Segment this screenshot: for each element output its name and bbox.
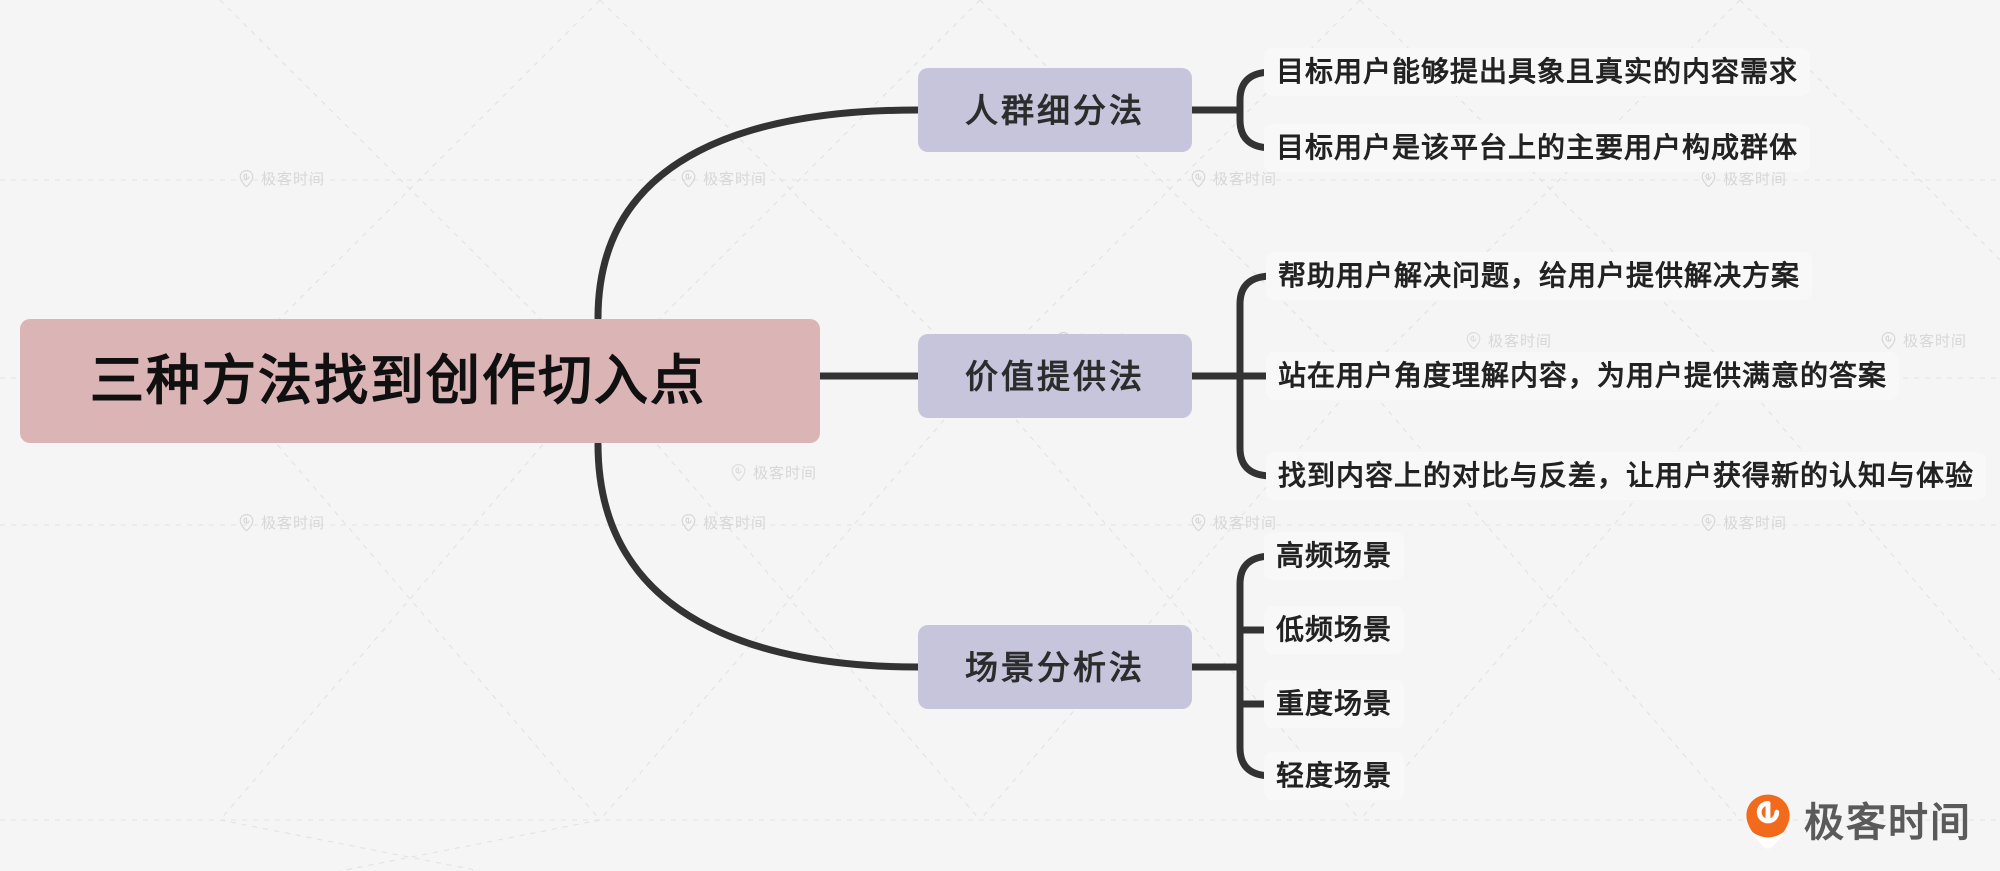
watermark-text: 极客时间 bbox=[1723, 512, 1787, 533]
branch-node-3[interactable]: 场景分析法 bbox=[918, 625, 1192, 709]
watermark-text: 极客时间 bbox=[703, 512, 767, 533]
geektime-pin-icon bbox=[238, 170, 255, 187]
leaf-node-1-2-label: 目标用户是该平台上的主要用户构成群体 bbox=[1276, 134, 1798, 162]
leaf-node-3-1-label: 高频场景 bbox=[1276, 542, 1392, 570]
watermark-tile: 极客时间 bbox=[1700, 512, 1787, 533]
leaf-node-2-2[interactable]: 站在用户角度理解内容，为用户提供满意的答案 bbox=[1266, 352, 1899, 400]
watermark-tile: 极客时间 bbox=[1190, 512, 1277, 533]
leaf-node-3-4-label: 轻度场景 bbox=[1276, 762, 1392, 790]
geektime-pin-icon bbox=[1465, 332, 1482, 349]
leaf-node-2-2-label: 站在用户角度理解内容，为用户提供满意的答案 bbox=[1278, 362, 1887, 390]
root-node[interactable]: 三种方法找到创作切入点 bbox=[20, 319, 820, 443]
watermark-tile: 极客时间 bbox=[238, 168, 325, 189]
leaf-node-1-2[interactable]: 目标用户是该平台上的主要用户构成群体 bbox=[1264, 124, 1810, 172]
leaf-node-3-2-label: 低频场景 bbox=[1276, 616, 1392, 644]
watermark-text: 极客时间 bbox=[1488, 330, 1552, 351]
geektime-pin-icon bbox=[680, 170, 697, 187]
leaf-node-3-3-label: 重度场景 bbox=[1276, 690, 1392, 718]
connector-root-to-branch-3 bbox=[598, 444, 918, 667]
watermark-text: 极客时间 bbox=[753, 462, 817, 483]
watermark-tile: 极客时间 bbox=[1465, 330, 1552, 351]
watermark-text: 极客时间 bbox=[261, 512, 325, 533]
watermark-tile: 极客时间 bbox=[1880, 330, 1967, 351]
branch-node-1[interactable]: 人群细分法 bbox=[918, 68, 1192, 152]
branch-node-1-label: 人群细分法 bbox=[965, 94, 1145, 127]
brand-logo: 极客时间 bbox=[1744, 793, 1972, 853]
watermark-tile: 极客时间 bbox=[730, 462, 817, 483]
leaf-node-2-1-label: 帮助用户解决问题，给用户提供解决方案 bbox=[1278, 262, 1800, 290]
leaf-node-1-1-label: 目标用户能够提出具象且真实的内容需求 bbox=[1276, 58, 1798, 86]
geektime-pin-icon bbox=[730, 464, 747, 481]
watermark-text: 极客时间 bbox=[1213, 512, 1277, 533]
root-node-label: 三种方法找到创作切入点 bbox=[20, 354, 706, 408]
geektime-pin-icon bbox=[1190, 170, 1207, 187]
branch-node-2[interactable]: 价值提供法 bbox=[918, 334, 1192, 418]
connector-root-to-branch-1 bbox=[598, 110, 918, 318]
watermark-tile: 极客时间 bbox=[680, 512, 767, 533]
geektime-pin-icon bbox=[680, 514, 697, 531]
brand-name: 极客时间 bbox=[1804, 803, 1972, 843]
geektime-pin-icon bbox=[1880, 332, 1897, 349]
watermark-text: 极客时间 bbox=[261, 168, 325, 189]
leaf-node-3-1[interactable]: 高频场景 bbox=[1264, 532, 1404, 580]
connector-branch-3-bracket bbox=[1240, 556, 1272, 776]
leaf-node-2-3[interactable]: 找到内容上的对比与反差，让用户获得新的认知与体验 bbox=[1266, 452, 1986, 500]
watermark-tile: 极客时间 bbox=[238, 512, 325, 533]
geektime-pin-icon bbox=[1190, 514, 1207, 531]
leaf-node-3-3[interactable]: 重度场景 bbox=[1264, 680, 1404, 728]
watermark-text: 极客时间 bbox=[703, 168, 767, 189]
geektime-pin-icon bbox=[1744, 793, 1792, 853]
watermark-text: 极客时间 bbox=[1213, 168, 1277, 189]
geektime-pin-icon bbox=[238, 514, 255, 531]
geektime-pin-icon bbox=[1700, 170, 1717, 187]
watermark-text: 极客时间 bbox=[1903, 330, 1967, 351]
mindmap-canvas: 极客时间 极客时间 极客时间 极客时间 极客时间 bbox=[0, 0, 2000, 871]
branch-node-2-label: 价值提供法 bbox=[965, 360, 1145, 393]
leaf-node-2-3-label: 找到内容上的对比与反差，让用户获得新的认知与体验 bbox=[1278, 462, 1974, 490]
watermark-tile: 极客时间 bbox=[680, 168, 767, 189]
geektime-pin-icon bbox=[1700, 514, 1717, 531]
branch-node-3-label: 场景分析法 bbox=[965, 651, 1145, 684]
leaf-node-2-1[interactable]: 帮助用户解决问题，给用户提供解决方案 bbox=[1266, 252, 1812, 300]
watermark-tile: 极客时间 bbox=[1190, 168, 1277, 189]
leaf-node-3-4[interactable]: 轻度场景 bbox=[1264, 752, 1404, 800]
leaf-node-3-2[interactable]: 低频场景 bbox=[1264, 606, 1404, 654]
leaf-node-1-1[interactable]: 目标用户能够提出具象且真实的内容需求 bbox=[1264, 48, 1810, 96]
